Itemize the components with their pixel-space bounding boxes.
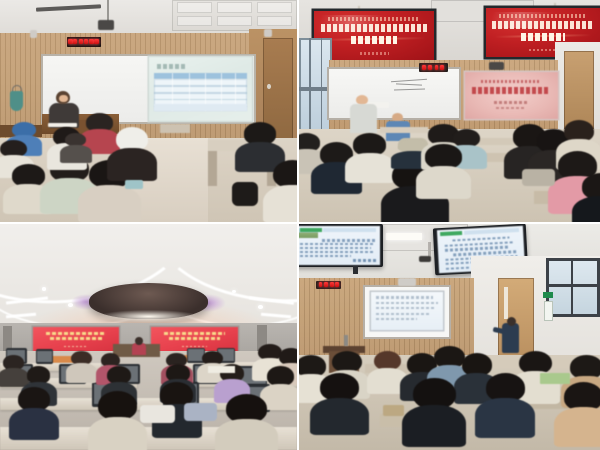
collage-panel-top-left[interactable] bbox=[0, 0, 299, 224]
screen-headline-text bbox=[46, 332, 106, 335]
wall-projector bbox=[398, 278, 416, 286]
ceiling-projector bbox=[98, 20, 114, 30]
stacked-papers bbox=[208, 366, 235, 373]
camera-icon bbox=[30, 30, 38, 38]
student-silhouette bbox=[244, 122, 277, 171]
speaker-box-icon bbox=[264, 29, 272, 37]
speaker-body bbox=[350, 104, 377, 133]
slide-title-strip bbox=[465, 229, 520, 236]
tv-screen-content bbox=[299, 226, 380, 265]
student-silhouette bbox=[582, 173, 600, 222]
banner-footer-text bbox=[360, 52, 389, 54]
led-clock bbox=[419, 63, 448, 72]
student-silhouette bbox=[86, 113, 113, 153]
teacher-head bbox=[507, 317, 516, 326]
student-silhouette bbox=[353, 133, 386, 182]
disc-underglow bbox=[98, 310, 199, 324]
projection-screen bbox=[465, 72, 558, 119]
student-silhouette bbox=[116, 127, 149, 180]
photo-collage bbox=[0, 0, 600, 450]
hanging-bag bbox=[10, 91, 23, 111]
collage-panel-bottom-right[interactable] bbox=[299, 224, 600, 450]
banner-glare bbox=[486, 12, 600, 29]
bag-on-chair bbox=[125, 180, 143, 189]
screen-subhead-text bbox=[169, 337, 221, 340]
screen-date-text bbox=[182, 346, 206, 348]
wall-poster bbox=[544, 301, 553, 321]
led-clock bbox=[316, 281, 342, 289]
student-silhouette bbox=[98, 391, 137, 450]
slide-date-text bbox=[496, 107, 526, 109]
ceiling-projector bbox=[489, 62, 504, 70]
slide-title-strip bbox=[323, 228, 376, 231]
collage-panel-bottom-left[interactable] bbox=[0, 224, 299, 450]
student-silhouette bbox=[18, 387, 51, 439]
backpack bbox=[232, 182, 259, 206]
slide-title-bar bbox=[300, 228, 322, 231]
screen-headline-text bbox=[164, 332, 224, 335]
projection-screen bbox=[371, 292, 443, 330]
screen-date-text bbox=[64, 346, 88, 348]
desk-leg bbox=[208, 151, 217, 187]
student-silhouette bbox=[374, 351, 401, 394]
slide-kicker-text bbox=[481, 80, 541, 83]
student-desk bbox=[160, 124, 190, 133]
green-folder bbox=[540, 373, 570, 384]
slide-title-text bbox=[157, 64, 187, 69]
instructor-face bbox=[59, 95, 67, 103]
grey-bag bbox=[184, 403, 217, 421]
slide-table-footer bbox=[154, 104, 246, 110]
banner-glare bbox=[314, 15, 434, 32]
led-clock bbox=[67, 37, 101, 47]
student-silhouette bbox=[486, 373, 525, 436]
student-silhouette bbox=[65, 133, 86, 162]
desk-item bbox=[383, 405, 404, 416]
ceiling-grid bbox=[172, 0, 297, 31]
teacher-body bbox=[502, 323, 519, 352]
slide-title-bar bbox=[441, 232, 463, 237]
panel-bottom-right-scene bbox=[299, 224, 600, 450]
backpack bbox=[522, 169, 555, 187]
banner-footer-text bbox=[529, 49, 556, 51]
ceiling-strip-light bbox=[386, 233, 422, 240]
white-bag bbox=[140, 405, 176, 423]
student-silhouette bbox=[320, 373, 359, 434]
student-silhouette bbox=[425, 144, 461, 197]
presenter-head bbox=[135, 337, 143, 345]
slide-title-text bbox=[472, 87, 550, 94]
exit-sign-icon bbox=[543, 292, 554, 298]
whiteboard bbox=[329, 69, 458, 118]
collage-panel-top-right[interactable] bbox=[299, 0, 600, 224]
student-silhouette bbox=[267, 366, 294, 409]
tv-mount-left bbox=[353, 266, 358, 274]
screen-subhead-text bbox=[50, 337, 102, 340]
student-silhouette bbox=[273, 160, 297, 222]
banner-subhead-text bbox=[521, 33, 564, 41]
panel-top-left-scene bbox=[0, 0, 297, 222]
wall-tv-left bbox=[299, 224, 383, 267]
exterior-window bbox=[546, 258, 600, 317]
banner-subhead-text bbox=[351, 36, 397, 44]
microphone-icon bbox=[344, 335, 348, 346]
student-silhouette bbox=[3, 355, 24, 387]
slide-subtitle-text bbox=[494, 101, 528, 104]
panel-top-right-scene bbox=[299, 0, 600, 222]
front-desk bbox=[380, 127, 428, 134]
panel-bottom-left-scene bbox=[0, 224, 297, 450]
ceiling-projector bbox=[419, 256, 431, 263]
door-handle-plate bbox=[504, 287, 508, 319]
student-silhouette bbox=[413, 378, 455, 446]
student-silhouette bbox=[564, 382, 600, 445]
student-silhouette bbox=[226, 394, 268, 450]
student-silhouette bbox=[71, 351, 92, 383]
